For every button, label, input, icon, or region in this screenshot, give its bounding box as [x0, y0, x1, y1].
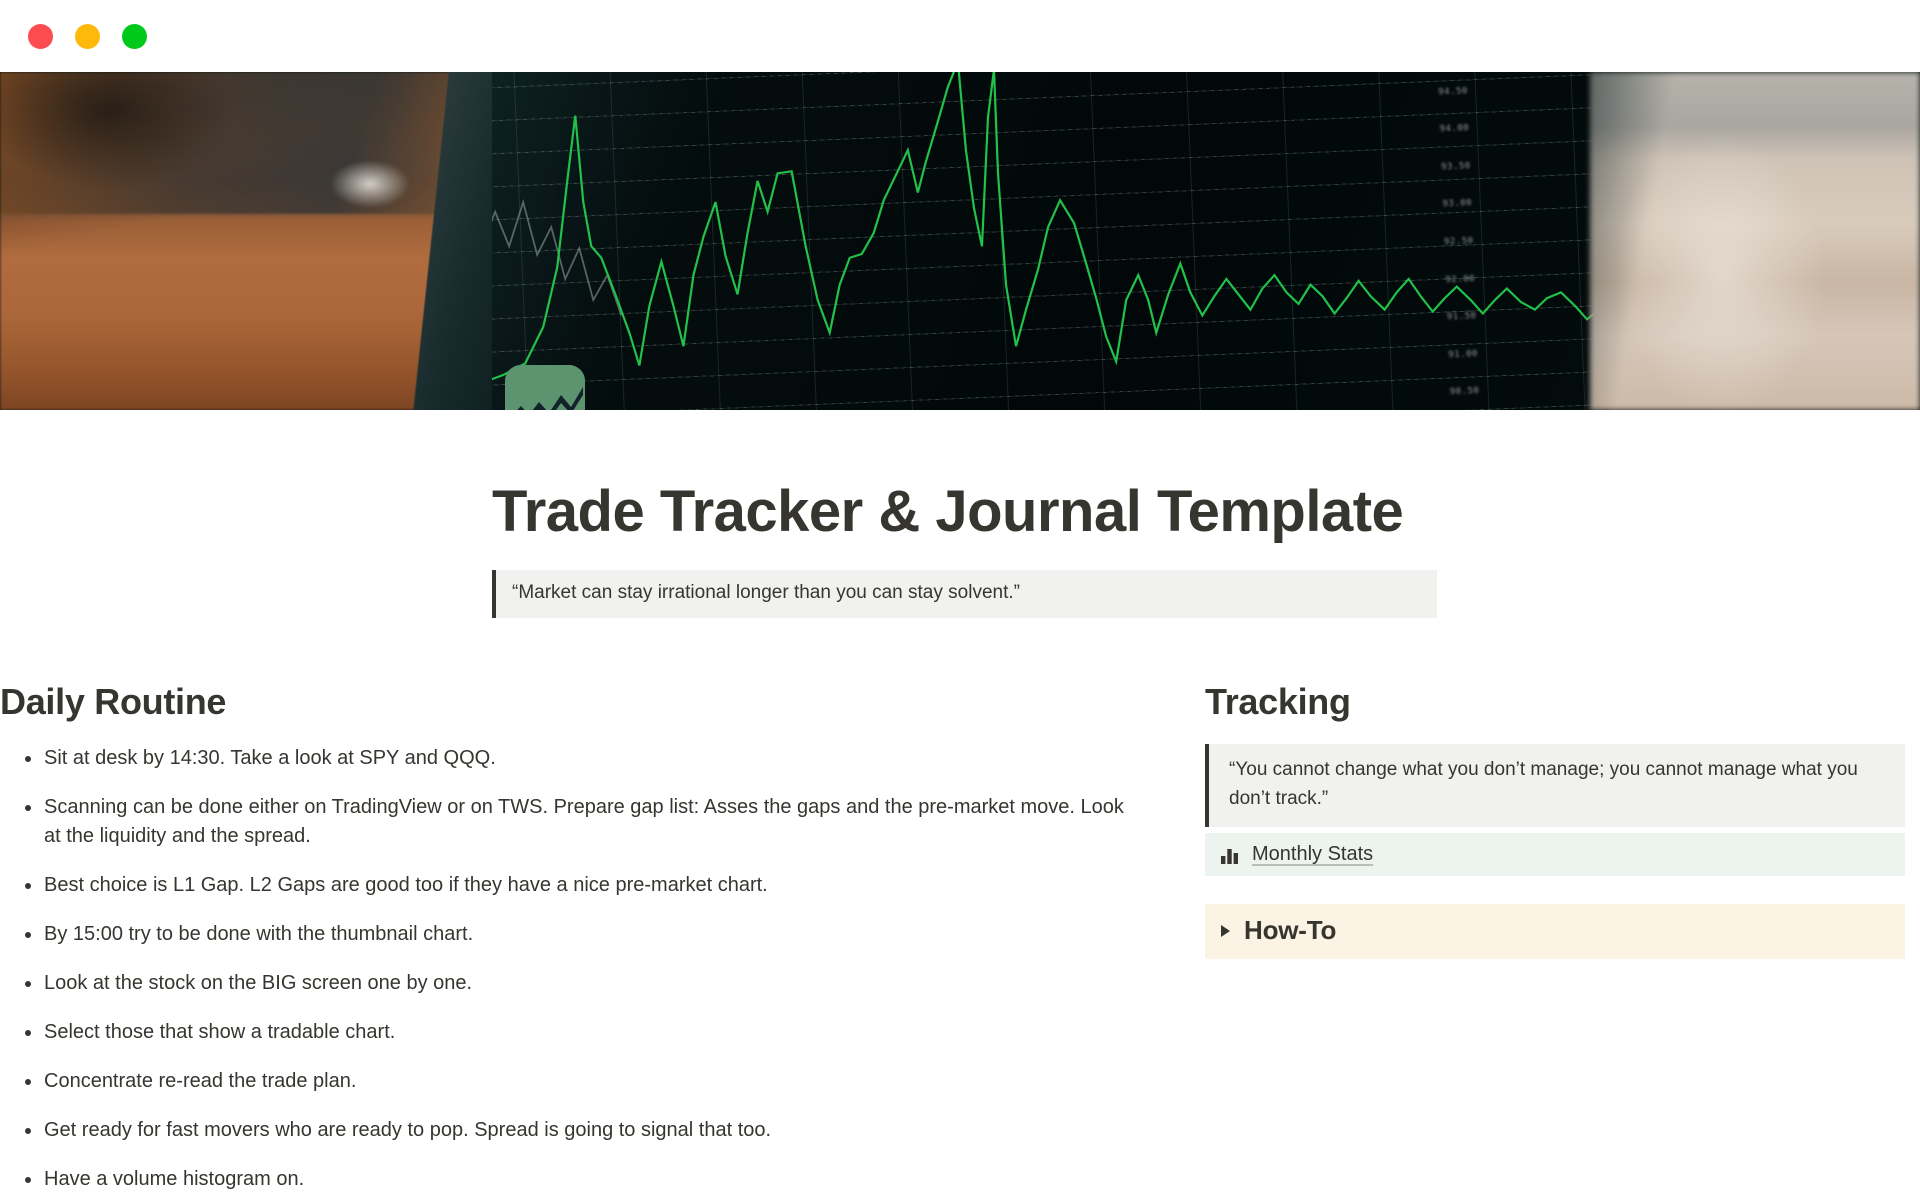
window-title-bar [0, 0, 1920, 72]
maximize-window-button[interactable] [122, 24, 147, 49]
daily-routine-list: Sit at desk by 14:30. Take a look at SPY… [0, 744, 1205, 1194]
cover-monitor-screen: 94.50 94.00 93.50 93.00 92.50 92.00 91.5… [492, 72, 1610, 410]
monthly-stats-link-label[interactable]: Monthly Stats [1252, 843, 1373, 866]
scale-label: 91.50 [1447, 311, 1477, 322]
daily-routine-heading: Daily Routine [0, 681, 1205, 723]
page-body: Trade Tracker & Journal Template “Market… [0, 410, 1920, 1200]
minimize-window-button[interactable] [75, 24, 100, 49]
scale-label: 92.00 [1445, 274, 1475, 285]
page-quote-callout: “Market can stay irrational longer than … [492, 570, 1437, 619]
cover-background-right [1590, 72, 1920, 410]
how-to-toggle-label[interactable]: How-To [1244, 915, 1336, 946]
list-item[interactable]: Select those that show a tradable chart. [0, 1018, 1135, 1047]
list-item[interactable]: Best choice is L1 Gap. L2 Gaps are good … [0, 871, 1135, 900]
list-item[interactable]: Look at the stock on the BIG screen one … [0, 969, 1135, 998]
triangle-right-icon[interactable] [1221, 925, 1230, 937]
scale-label: 94.50 [1438, 86, 1468, 97]
traffic-light-group [28, 24, 147, 49]
column-tracking: Tracking “You cannot change what you don… [1205, 681, 1920, 959]
page-icon[interactable] [505, 365, 585, 410]
list-item[interactable]: Concentrate re-read the trade plan. [0, 1067, 1135, 1096]
cover-price-scale: 94.50 94.00 93.50 93.00 92.50 92.00 91.5… [1438, 72, 1521, 410]
cover-photo: 94.50 94.00 93.50 93.00 92.50 92.00 91.5… [0, 72, 1920, 410]
list-item[interactable]: Scanning can be done either on TradingVi… [0, 793, 1135, 851]
scale-label: 92.50 [1444, 236, 1474, 247]
scale-label: 94.00 [1440, 124, 1470, 135]
bar-chart-icon [1219, 844, 1241, 866]
two-column-layout: Daily Routine Sit at desk by 14:30. Take… [0, 681, 1920, 1200]
page-title: Trade Tracker & Journal Template [492, 482, 1920, 543]
how-to-toggle[interactable]: How-To [1205, 904, 1905, 959]
scale-label: 93.00 [1442, 199, 1472, 210]
list-item[interactable]: By 15:00 try to be done with the thumbna… [0, 920, 1135, 949]
scale-label: 91.00 [1448, 349, 1478, 360]
scale-label: 93.50 [1441, 161, 1471, 172]
tracking-heading: Tracking [1205, 681, 1920, 723]
column-daily-routine: Daily Routine Sit at desk by 14:30. Take… [0, 681, 1205, 1200]
monthly-stats-link-row[interactable]: Monthly Stats [1205, 833, 1905, 876]
tracking-quote-callout: “You cannot change what you don’t manage… [1205, 744, 1905, 827]
list-item[interactable]: Sit at desk by 14:30. Take a look at SPY… [0, 744, 1135, 773]
page-cover-image[interactable]: 94.50 94.00 93.50 93.00 92.50 92.00 91.5… [0, 72, 1920, 410]
close-window-button[interactable] [28, 24, 53, 49]
line-chart-icon [505, 365, 585, 410]
page-header: Trade Tracker & Journal Template “Market… [0, 482, 1920, 618]
scale-label: 90.50 [1450, 386, 1480, 397]
list-item[interactable]: Get ready for fast movers who are ready … [0, 1116, 1135, 1145]
list-item[interactable]: Have a volume histogram on. [0, 1165, 1135, 1194]
